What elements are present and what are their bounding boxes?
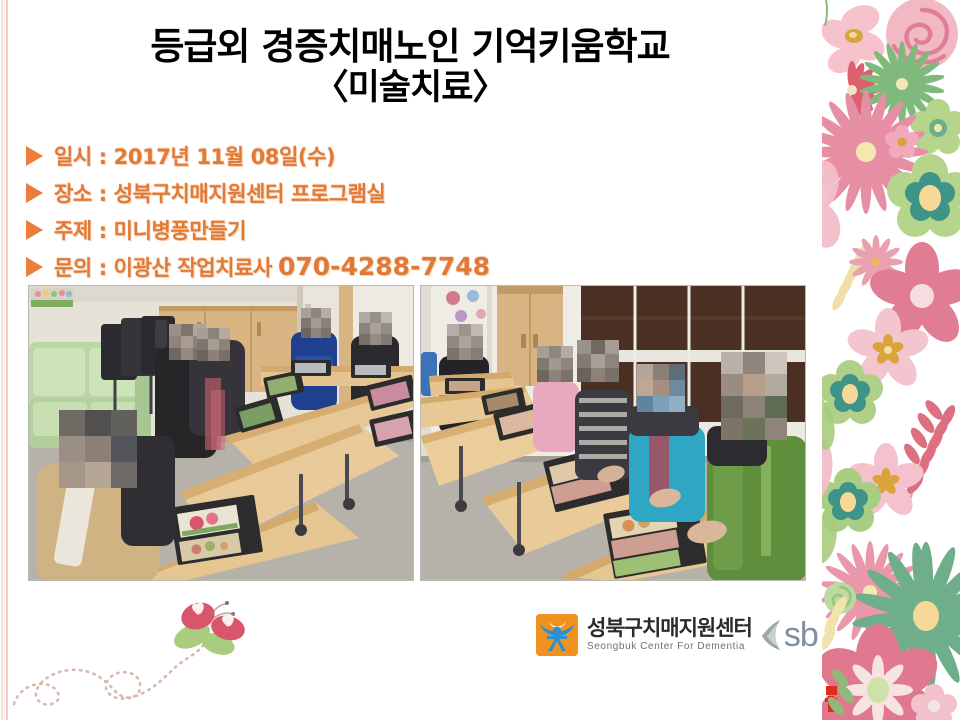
stripe-segment-2 [4,0,5,720]
photo-strip [28,285,806,581]
info-contact-label: 문의 : 이광산 작업치료사 [54,256,272,280]
info-date: 일시 : 2017년 11월 08일(수) [54,141,335,171]
triangle-bullet-icon [26,220,43,240]
butterfly-wings [170,598,247,658]
floral-pattern [822,0,960,720]
mosaic-face [537,346,573,382]
triangle-bullet-icon [26,183,43,203]
list-item: 장소 : 성북구치매지원센터 프로그램실 [26,175,726,211]
slide-canvas: 등급외 경증치매노인 기억키움학교 〈미술치료〉 일시 : 2017년 11월 … [0,0,960,720]
mosaic-face [637,364,685,412]
mosaic-face [721,352,787,440]
mosaic-face [59,410,137,488]
leaf-swoosh-icon [760,617,782,653]
left-accent-stripe [0,0,9,720]
logo-english-name: Seongbuk Center For Dementia [587,641,752,652]
photo-left [28,285,414,581]
logo-wordmark: 성북구치매지원센터 Seongbuk Center For Dementia [587,618,752,652]
mosaic-face [577,340,619,382]
sb-letters: sb [784,618,818,652]
poster-title: 등급외 경증치매노인 기억키움학교 〈미술치료〉 [40,26,780,109]
photo-right [420,285,806,581]
triangle-bullet-icon [26,146,43,166]
list-item: 문의 : 이광산 작업치료사070-4288-7748 [26,249,726,285]
info-topic: 주제 : 미니병풍만들기 [54,215,246,245]
info-list: 일시 : 2017년 11월 08일(수) 장소 : 성북구치매지원센터 프로그… [26,138,726,286]
mosaic-face [197,328,230,361]
organization-logo: 성북구치매지원센터 Seongbuk Center For Dementia s… [536,612,818,658]
sb-mark: sb [760,617,818,653]
mosaic-face [301,308,331,338]
triangle-bullet-icon [26,257,43,277]
photo-right-scene [421,286,806,581]
logo-korean-name: 성북구치매지원센터 [587,618,752,639]
center-mark-icon [536,614,578,656]
title-line-1: 등급외 경증치매노인 기억키움학교 [40,26,780,67]
booklet [351,362,391,378]
booklet [291,360,331,376]
butterfly-decoration [12,592,302,710]
list-item: 주제 : 미니병풍만들기 [26,212,726,248]
info-location: 장소 : 성북구치매지원센터 프로그램실 [54,178,385,208]
stripe-segment-1 [1,0,3,720]
mosaic-face [447,324,483,360]
info-contact-phone: 070-4288-7748 [278,252,490,281]
photo-left-scene [29,286,414,581]
floral-border-decoration [822,0,960,720]
person-swoosh-icon [536,614,578,656]
mosaic-face [359,312,392,345]
list-item: 일시 : 2017년 11월 08일(수) [26,138,726,174]
info-contact: 문의 : 이광산 작업치료사070-4288-7748 [54,252,490,282]
butterfly-icon [12,592,302,710]
stripe-segment-3 [6,0,8,720]
title-line-2: 〈미술치료〉 [40,69,780,108]
